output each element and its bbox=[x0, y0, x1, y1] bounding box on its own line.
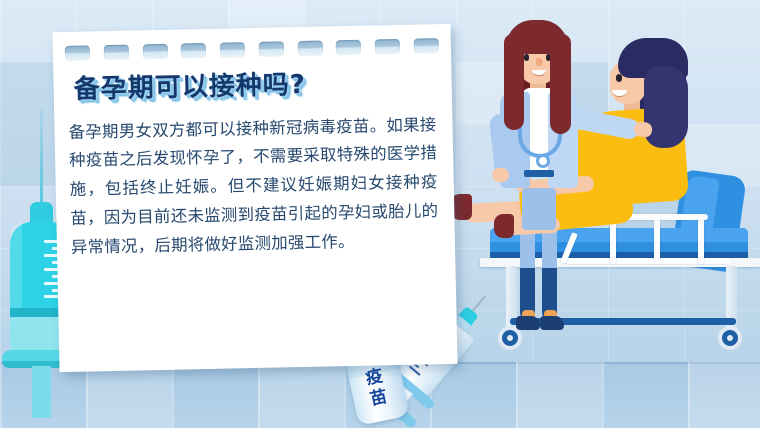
binder-hole bbox=[142, 43, 167, 59]
poster-canvas: 疫 苗 备孕期可以接种吗? 备孕期男女双方都可以接种新冠病毒疫苗。如果接种疫苗之… bbox=[0, 0, 760, 428]
doctor-shoe bbox=[540, 316, 564, 330]
card-content: 备孕期可以接种吗? 备孕期男女双方都可以接种新冠病毒疫苗。如果接种疫苗之后发现怀… bbox=[67, 68, 439, 263]
doctor-shoe bbox=[516, 316, 540, 330]
patient-hair-lock bbox=[644, 66, 688, 148]
syringe-needle bbox=[40, 110, 43, 202]
doctor-hair-side bbox=[550, 34, 571, 134]
vial-label-char-1: 疫 bbox=[364, 368, 384, 388]
binder-hole bbox=[297, 40, 322, 56]
bed-wheel bbox=[718, 326, 742, 350]
binder-hole bbox=[220, 42, 245, 58]
clinic-scene bbox=[470, 0, 760, 372]
doctor-eye bbox=[524, 54, 529, 61]
stethoscope-bell-icon bbox=[536, 154, 550, 168]
binder-hole bbox=[104, 44, 129, 60]
binder-hole bbox=[336, 39, 361, 55]
pregnant-patient-character bbox=[582, 36, 760, 276]
note-card: 备孕期可以接种吗? 备孕期男女双方都可以接种新冠病毒疫苗。如果接种疫苗之后发现怀… bbox=[52, 24, 457, 372]
body-paragraph: 备孕期男女双方都可以接种新冠病毒疫苗。如果接种疫苗之后发现怀孕了，不需要采取特殊… bbox=[68, 111, 439, 263]
doctor-hand-left bbox=[492, 168, 509, 182]
syringe-barrel-highlight bbox=[10, 222, 22, 310]
page-title: 备孕期可以接种吗? bbox=[67, 68, 436, 104]
doctor-character bbox=[486, 18, 606, 348]
binder-hole bbox=[181, 42, 206, 58]
vial-label-char-2: 苗 bbox=[369, 389, 389, 409]
binder-hole bbox=[414, 38, 439, 54]
doctor-pants bbox=[522, 188, 556, 230]
syringe-plunger bbox=[32, 366, 51, 418]
binder-holes-row bbox=[65, 36, 439, 62]
binder-hole bbox=[65, 45, 90, 61]
doctor-hair-side bbox=[504, 34, 524, 130]
doctor-seated-shoe bbox=[494, 214, 514, 238]
doctor-belt bbox=[524, 170, 554, 177]
binder-hole bbox=[375, 38, 400, 54]
binder-hole bbox=[259, 41, 284, 57]
